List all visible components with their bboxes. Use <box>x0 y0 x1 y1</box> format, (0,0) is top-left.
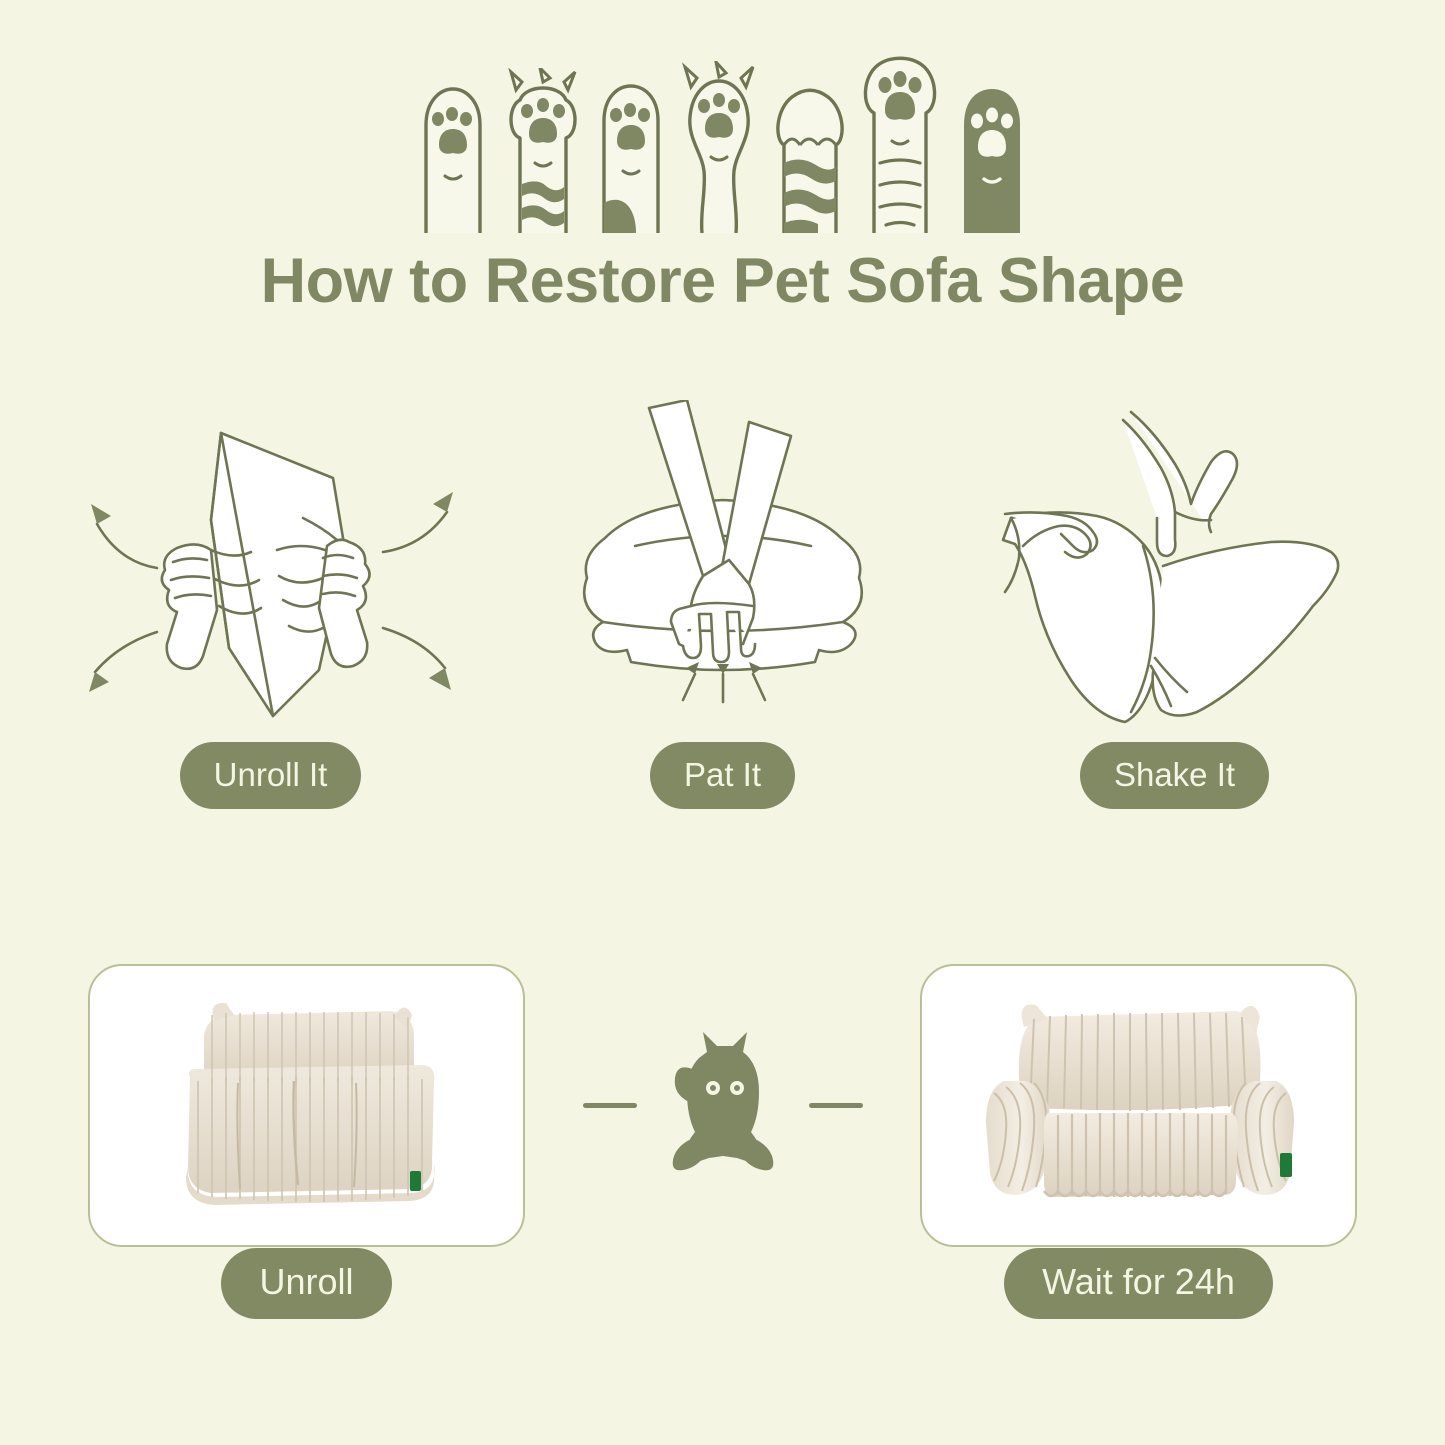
paw-icon-6 <box>856 55 944 233</box>
step-pat-art <box>543 400 903 730</box>
step-shake-art <box>975 400 1375 730</box>
paw-icon-2 <box>500 68 586 233</box>
cat-paw-row-icon <box>0 58 1445 233</box>
before-after-labels: Unroll Wait for 24h <box>0 1248 1445 1318</box>
page-title: How to Restore Pet Sofa Shape <box>0 245 1445 317</box>
divider-with-cat <box>525 964 920 1247</box>
paw-icon-5 <box>770 83 848 233</box>
before-after-row <box>0 955 1445 1255</box>
hands-shaking-bed-icon <box>975 400 1375 730</box>
photo-restored-bed <box>920 964 1357 1247</box>
label-slot-before: Unroll <box>88 1248 525 1319</box>
sitting-cat-silhouette-icon <box>663 1030 783 1180</box>
paw-icon-3 <box>594 81 668 233</box>
step-label-shake-it: Shake It <box>1080 742 1269 809</box>
divider-dash-right <box>809 1103 863 1108</box>
paw-icon-1 <box>414 83 492 233</box>
steps-row: Unroll It <box>0 400 1445 840</box>
step-label-unroll-it: Unroll It <box>180 742 362 809</box>
divider-dash-left <box>583 1103 637 1108</box>
hands-patting-bed-with-up-arrows-icon <box>543 400 903 730</box>
step-pat: Pat It <box>497 400 949 809</box>
paw-icon-4 <box>676 61 762 233</box>
infographic-root: How to Restore Pet Sofa Shape <box>0 0 1445 1445</box>
result-label-unroll: Unroll <box>221 1248 391 1319</box>
restored-pet-sofa-image <box>964 985 1314 1225</box>
hands-unrolling-bed-with-arrows-icon <box>61 400 481 730</box>
photo-compressed-bed <box>88 964 525 1247</box>
step-unroll-art <box>61 400 481 730</box>
step-label-pat-it: Pat It <box>650 742 795 809</box>
step-unroll: Unroll It <box>45 400 497 809</box>
label-slot-after: Wait for 24h <box>920 1248 1357 1319</box>
step-shake: Shake It <box>949 400 1401 809</box>
result-label-wait-24h: Wait for 24h <box>1004 1248 1273 1319</box>
paw-icon-7 <box>952 85 1032 233</box>
compressed-pet-bed-image <box>142 985 472 1225</box>
